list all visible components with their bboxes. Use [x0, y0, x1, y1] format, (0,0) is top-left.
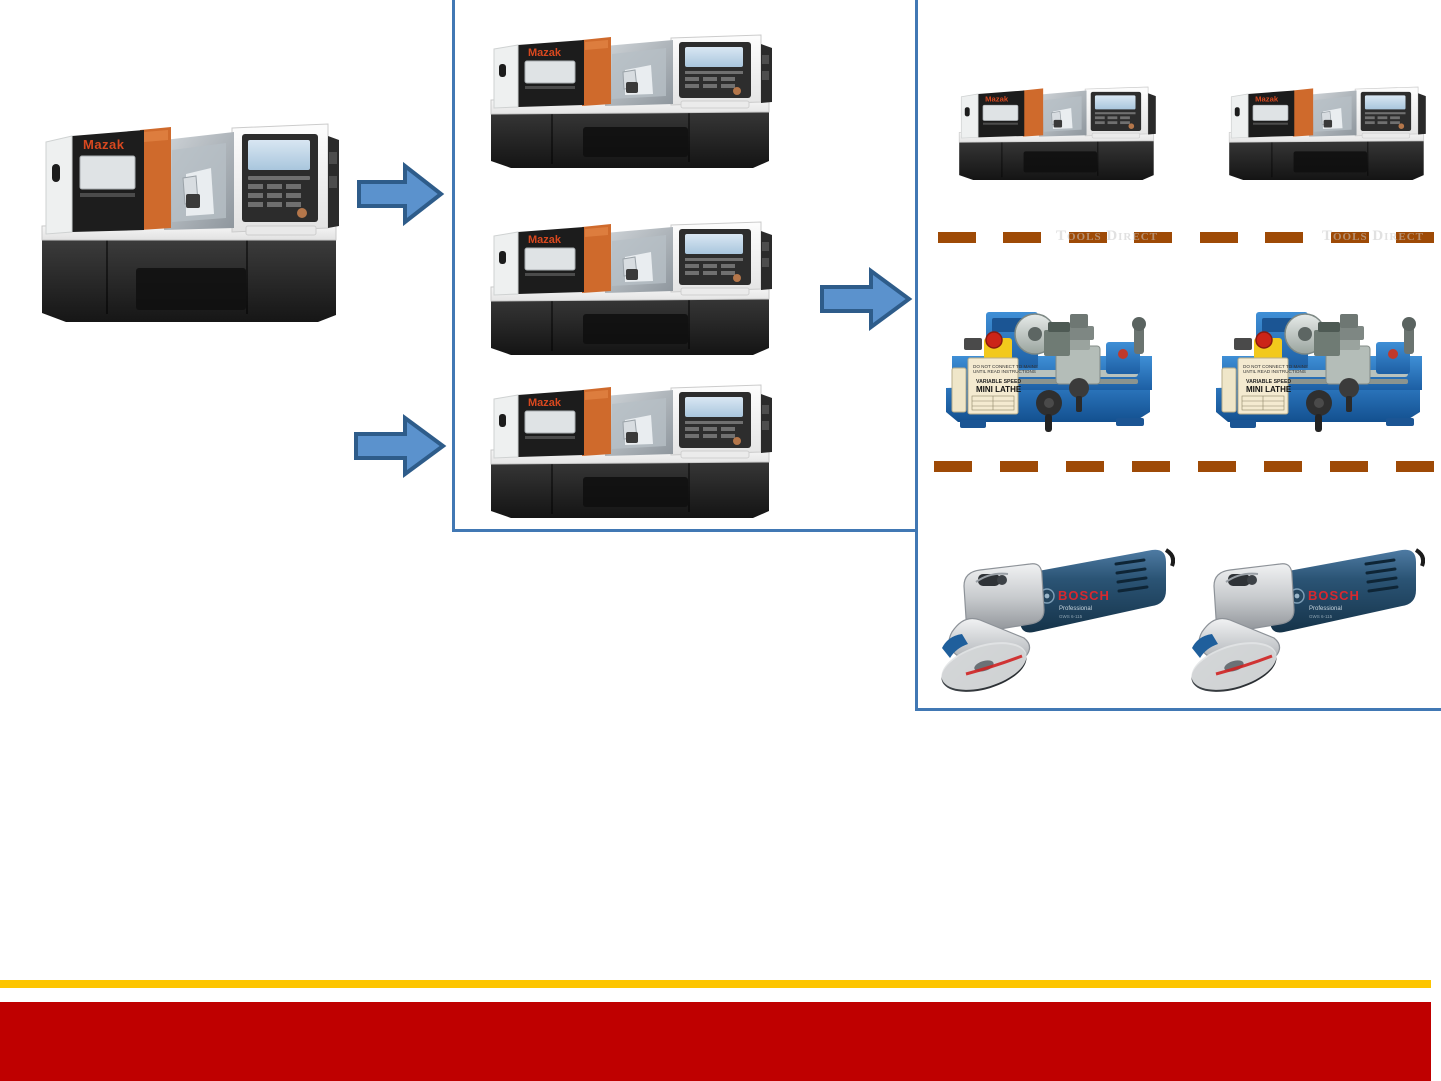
svg-text:BOSCH: BOSCH	[1058, 588, 1110, 603]
dash-segment	[1066, 461, 1104, 472]
svg-text:GWS 6-115: GWS 6-115	[1059, 614, 1083, 619]
dash-segment	[1134, 232, 1172, 243]
group-cnc-lathe-2[interactable]: Mazak	[485, 215, 778, 362]
dash-segment	[1069, 232, 1107, 243]
dash-segment	[938, 232, 976, 243]
svg-text:GWS 6-115: GWS 6-115	[1309, 614, 1333, 619]
dash-segment	[1264, 461, 1302, 472]
catalog-mini-lathe-2[interactable]: DO NOT CONNECT TO MAINS UNTIL READ INSTR…	[1208, 296, 1426, 444]
catalog-mini-lathe-1[interactable]: DO NOT CONNECT TO MAINS UNTIL READ INSTR…	[938, 296, 1156, 444]
dash-segment	[1198, 461, 1236, 472]
source-cnc-lathe-image[interactable]: Mazak	[36, 110, 346, 335]
svg-text:BOSCH: BOSCH	[1308, 588, 1360, 603]
svg-text:UNTIL READ INSTRUCTIONS: UNTIL READ INSTRUCTIONS	[973, 369, 1036, 374]
svg-text:Mazak: Mazak	[985, 95, 1009, 104]
dash-segment	[1200, 232, 1238, 243]
separator-top	[938, 232, 1434, 243]
dash-segment	[934, 461, 972, 472]
catalog-cnc-lathe-1[interactable]: Mazak	[955, 60, 1160, 215]
svg-text:Mazak: Mazak	[1255, 95, 1279, 104]
svg-text:UNTIL READ INSTRUCTIONS: UNTIL READ INSTRUCTIONS	[1243, 369, 1306, 374]
svg-text:Professional: Professional	[1309, 606, 1342, 612]
catalog-angle-grinder-2[interactable]: BOSCH Professional GWS 6-115	[1180, 528, 1425, 700]
arrow-group-to-catalog[interactable]	[818, 265, 913, 333]
slide-canvas: Mazak	[0, 0, 1441, 1081]
dash-segment	[1330, 461, 1368, 472]
dash-segment	[1000, 461, 1038, 472]
catalog-angle-grinder-1[interactable]: BOSCH Professional GWS 6-115	[930, 528, 1175, 700]
group-cnc-lathe-1[interactable]: Mazak	[485, 28, 778, 175]
svg-text:Mazak: Mazak	[528, 234, 562, 246]
dash-segment	[1003, 232, 1041, 243]
dash-segment	[1132, 461, 1170, 472]
arrow-source-to-group-top[interactable]	[355, 160, 445, 228]
catalog-cnc-lathe-2[interactable]: Mazak	[1225, 60, 1430, 215]
dash-segment	[1396, 461, 1434, 472]
group-cnc-lathe-3[interactable]: Mazak	[485, 378, 778, 525]
svg-text:Mazak: Mazak	[528, 397, 562, 409]
separator-bottom	[934, 461, 1434, 472]
svg-text:Mazak: Mazak	[528, 47, 562, 59]
dash-segment	[1396, 232, 1434, 243]
gold-accent-bar	[0, 980, 1431, 988]
svg-text:MINI LATHE: MINI LATHE	[1246, 385, 1292, 394]
dash-segment	[1331, 232, 1369, 243]
svg-text:Mazak: Mazak	[83, 137, 125, 152]
svg-text:Professional: Professional	[1059, 606, 1092, 612]
red-footer-bar	[0, 1002, 1431, 1081]
dash-segment	[1265, 232, 1303, 243]
svg-text:MINI LATHE: MINI LATHE	[976, 385, 1022, 394]
arrow-source-to-group-bottom[interactable]	[352, 412, 447, 480]
